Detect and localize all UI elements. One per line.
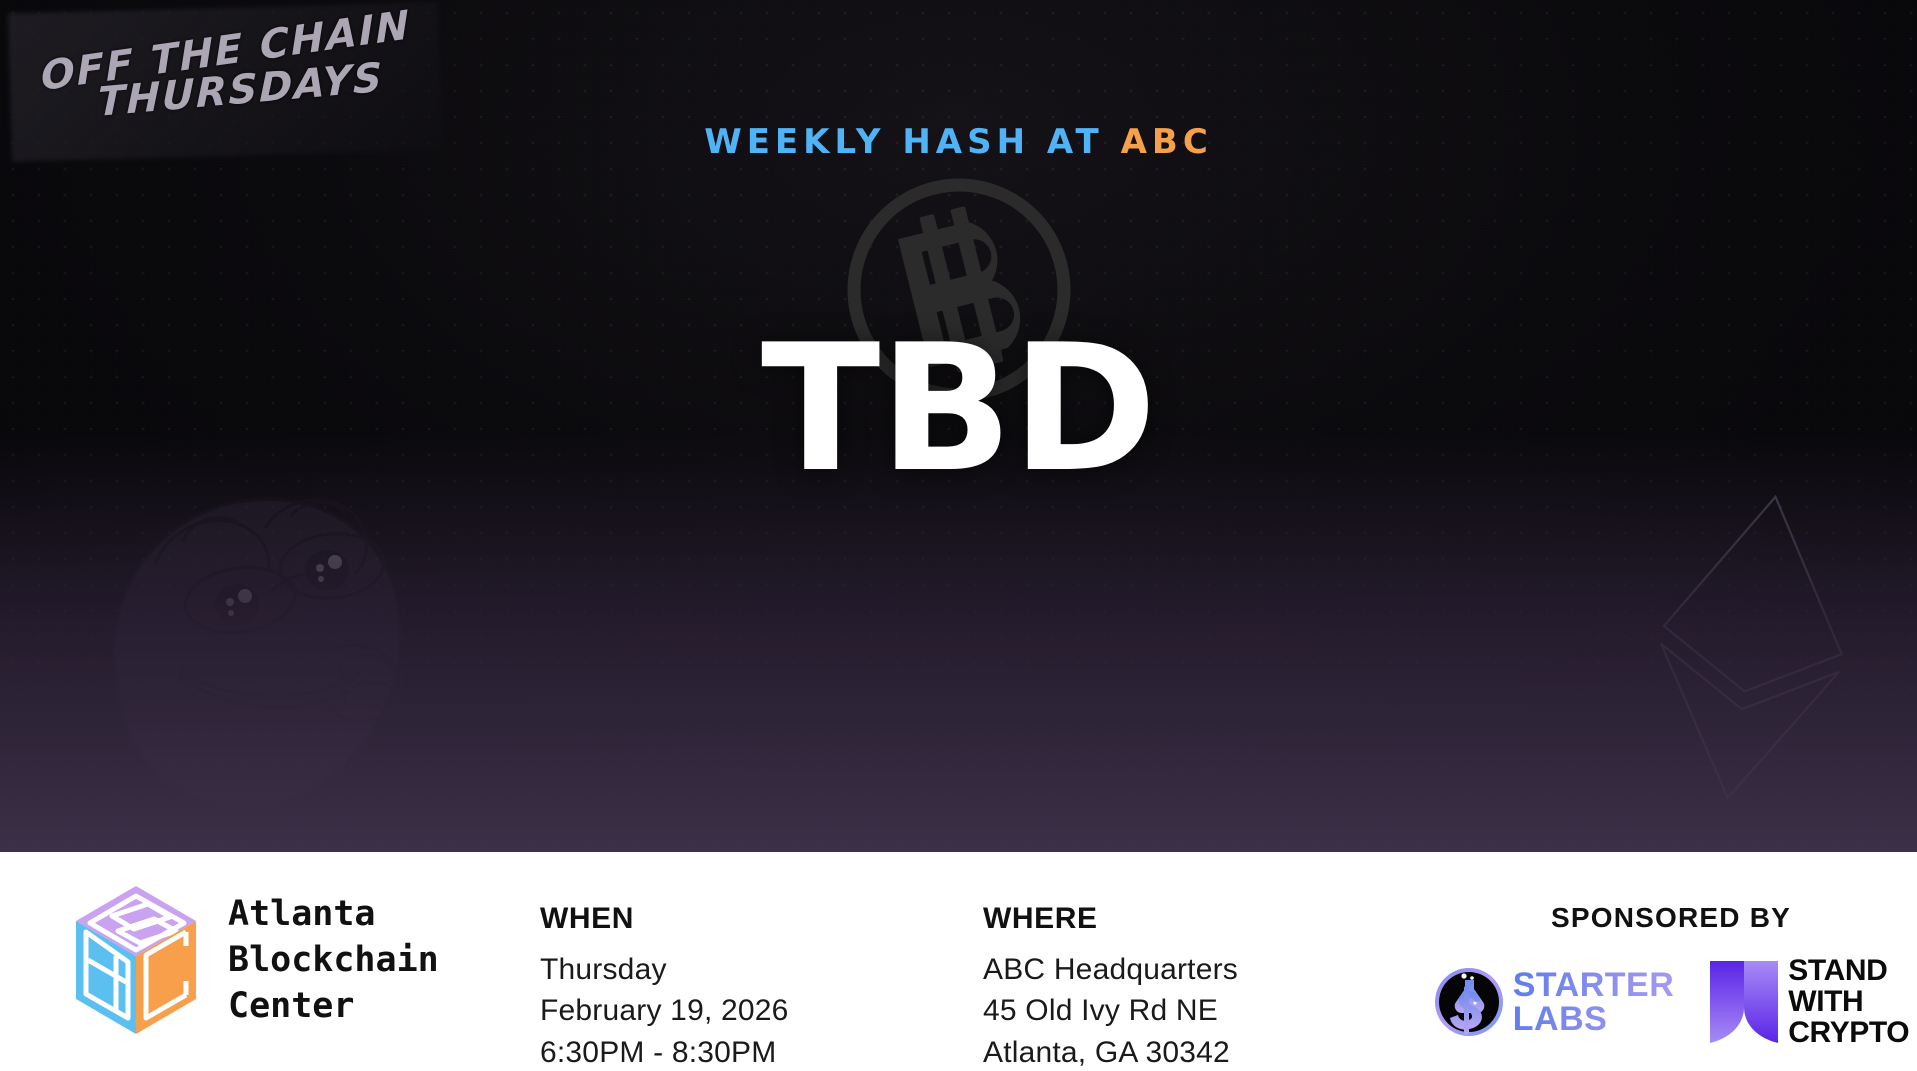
where-line: ABC Headquarters (983, 949, 1425, 990)
stand-with-crypto-wordmark: STAND WITH CRYPTO (1788, 956, 1909, 1049)
brand-name-line-3: Center (228, 983, 439, 1029)
starter-labs-wordmark: STARTER LABS (1513, 968, 1675, 1037)
when-line: Thursday (540, 949, 965, 990)
where-heading: WHERE (983, 902, 1425, 936)
swc-line-3: CRYPTO (1788, 1018, 1909, 1049)
brand-name-line-2: Blockchain (228, 937, 439, 983)
sponsor-starter-labs: STARTER LABS (1433, 966, 1675, 1038)
event-kicker: WEEKLY HASH AT ABC (0, 122, 1917, 162)
kicker-highlight: ABC (1121, 122, 1213, 162)
kicker-prefix: WEEKLY HASH AT (704, 122, 1120, 162)
brand-name-line-1: Atlanta (228, 891, 439, 937)
sponsors-heading: SPONSORED BY (1551, 902, 1791, 934)
swc-line-1: STAND (1788, 956, 1909, 987)
brand-block: Atlanta Blockchain Center (0, 874, 520, 1036)
where-line: 45 Old Ivy Rd NE (983, 990, 1425, 1031)
when-line: February 19, 2026 (540, 990, 965, 1031)
pepe-frog-watermark (95, 470, 495, 840)
ethereum-logo-watermark (1627, 470, 1877, 820)
page-title: TBD (0, 322, 1917, 497)
footer-info-bar: Atlanta Blockchain Center WHEN Thursday … (0, 852, 1917, 1071)
stand-with-crypto-shield-icon (1708, 959, 1780, 1045)
where-line: Atlanta, GA 30342 (983, 1032, 1425, 1071)
sponsors-block: SPONSORED BY (1425, 874, 1917, 1049)
swc-line-2: WITH (1788, 987, 1909, 1018)
when-line: 6:30PM - 8:30PM (540, 1032, 965, 1071)
atlanta-blockchain-center-cube-logo (72, 884, 200, 1036)
when-block: WHEN Thursday February 19, 2026 6:30PM -… (520, 874, 965, 1071)
starter-labs-line-2: LABS (1513, 1002, 1675, 1037)
sponsor-logo-row: STARTER LABS (1433, 956, 1910, 1049)
starter-labs-line-1: STARTER (1513, 968, 1675, 1003)
hero-section: OFF THE CHAIN THURSDAYS WEEKLY HASH AT A… (0, 0, 1917, 852)
brand-name: Atlanta Blockchain Center (228, 891, 439, 1030)
event-poster: OFF THE CHAIN THURSDAYS WEEKLY HASH AT A… (0, 0, 1917, 1071)
where-block: WHERE ABC Headquarters 45 Old Ivy Rd NE … (965, 874, 1425, 1071)
starter-labs-flask-icon (1433, 966, 1505, 1038)
when-heading: WHEN (540, 902, 965, 936)
sponsor-stand-with-crypto: STAND WITH CRYPTO (1708, 956, 1909, 1049)
